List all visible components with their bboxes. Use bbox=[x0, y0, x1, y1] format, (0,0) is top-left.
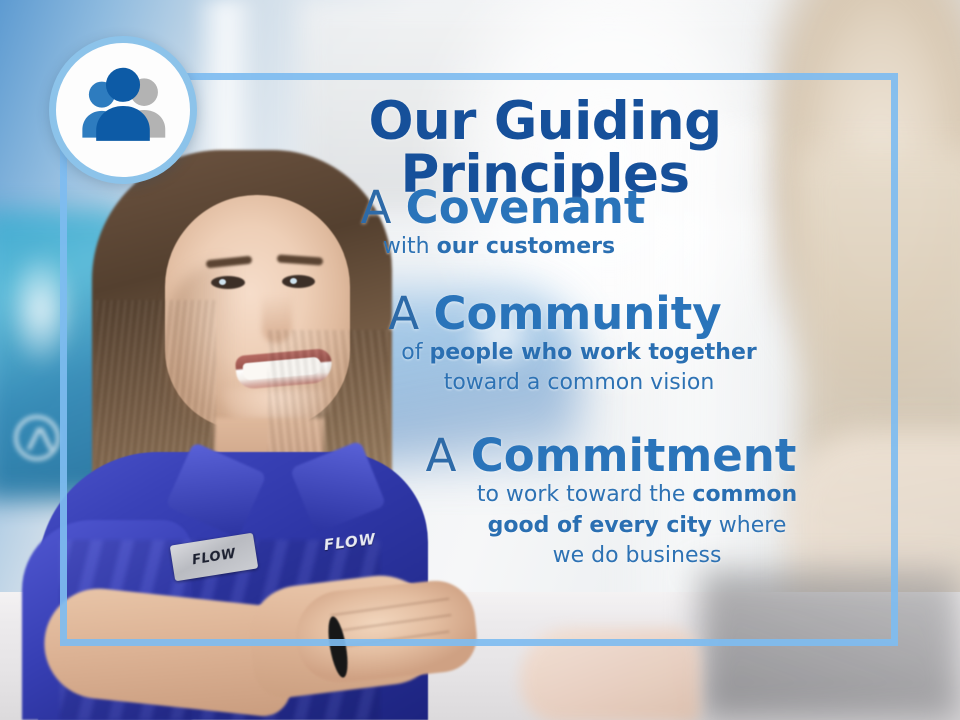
principle-commitment-sub-line-3: we do business bbox=[297, 541, 960, 571]
community-sub-1-b: people who work together bbox=[429, 340, 756, 365]
community-sub-2-a: toward a common vision bbox=[444, 370, 715, 395]
principle-commitment-sub-line-1: to work toward the common bbox=[297, 480, 960, 510]
principle-commitment-keyword: Commitment bbox=[471, 429, 797, 482]
principle-community-sub-line-1: of people who work together bbox=[239, 338, 919, 368]
principle-covenant-keyword: Covenant bbox=[406, 181, 646, 234]
commitment-sub-2-b: where bbox=[712, 513, 787, 538]
covenant-sub-1-b: our customers bbox=[437, 234, 616, 259]
background-screen-glow bbox=[6, 250, 76, 370]
principle-covenant: A Covenant with our customers bbox=[163, 184, 843, 262]
guiding-principles-banner: FLOW FLOW Our Guiding Principles bbox=[0, 0, 960, 720]
principle-commitment: A Commitment to work toward the common g… bbox=[271, 432, 951, 571]
background-vw-logo-icon bbox=[14, 415, 60, 461]
principle-covenant-sub-line-1: with our customers bbox=[159, 232, 839, 262]
people-group-icon bbox=[49, 36, 197, 184]
principles-list: A Covenant with our customers A Communit… bbox=[205, 182, 885, 577]
principle-covenant-article: A bbox=[361, 181, 406, 234]
principle-commitment-sub-line-2: good of every city where bbox=[297, 511, 960, 541]
principle-community-headline: A Community bbox=[215, 290, 895, 338]
customer-hand bbox=[520, 628, 700, 720]
desk-shading bbox=[700, 570, 960, 720]
principle-community-article: A bbox=[388, 287, 433, 340]
principle-commitment-headline: A Commitment bbox=[271, 432, 951, 480]
principle-community: A Community of people who work together … bbox=[215, 290, 895, 398]
commitment-sub-1-a: to work toward the bbox=[477, 482, 693, 507]
principle-community-keyword: Community bbox=[434, 287, 722, 340]
covenant-sub-1-a: with bbox=[383, 234, 437, 259]
principle-community-sub-line-2: toward a common vision bbox=[239, 368, 919, 398]
commitment-sub-3-a: we do business bbox=[553, 543, 722, 568]
community-sub-1-a: of bbox=[401, 340, 429, 365]
principle-commitment-article: A bbox=[426, 429, 471, 482]
commitment-sub-2-a: good of every city bbox=[488, 513, 712, 538]
commitment-sub-1-b: common bbox=[692, 482, 797, 507]
principle-covenant-headline: A Covenant bbox=[163, 184, 843, 232]
